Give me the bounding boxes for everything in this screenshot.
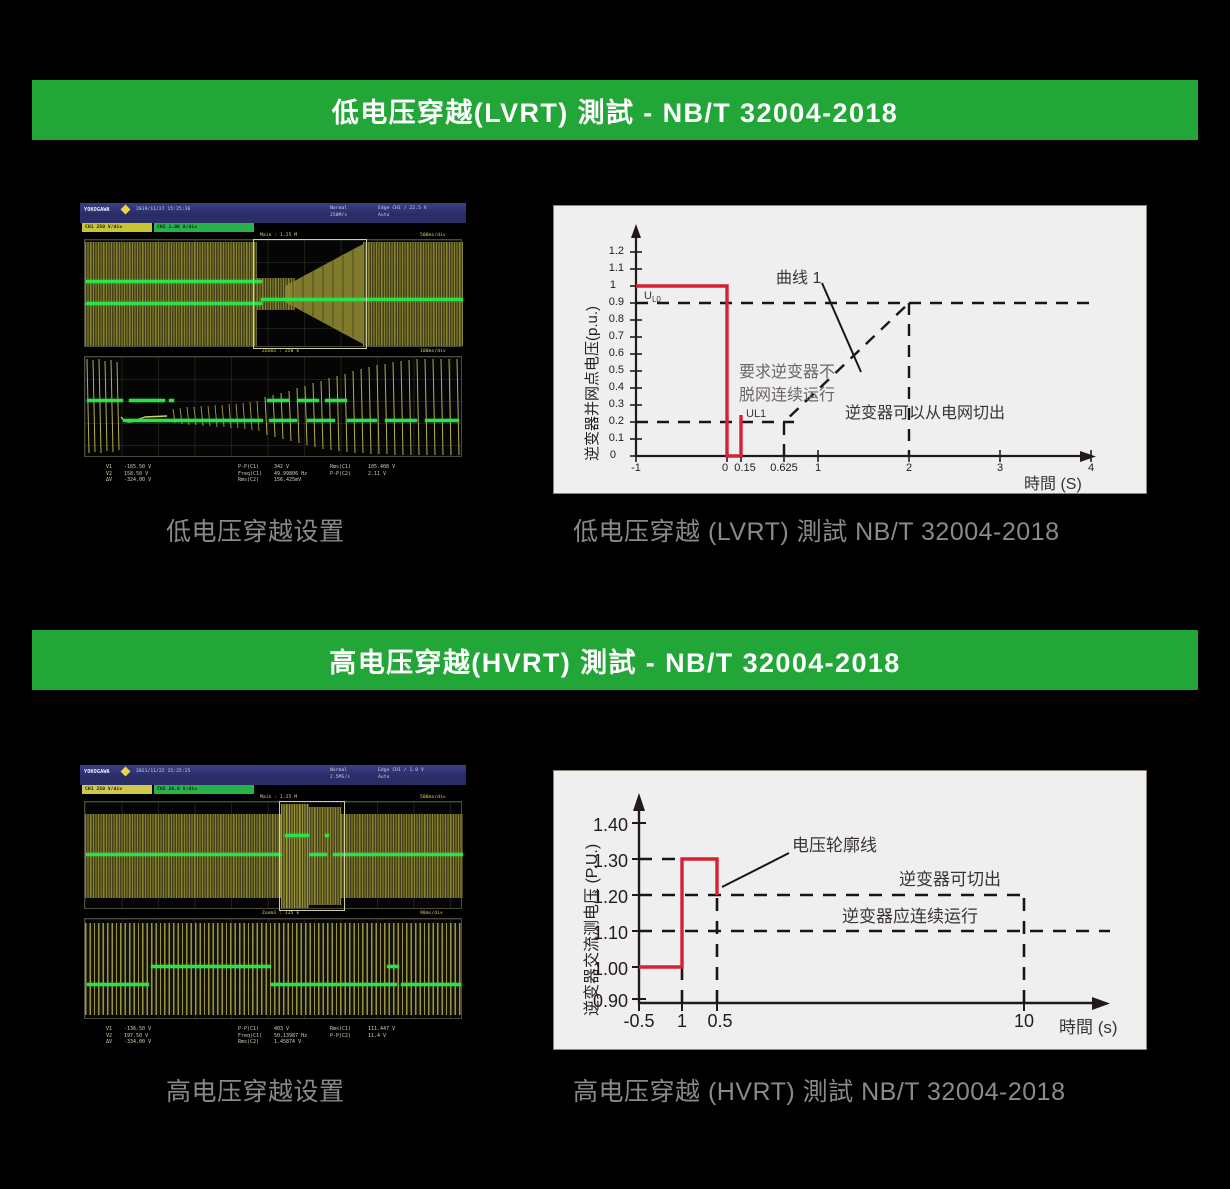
scope-meas2-col3-names: Rms(C1) P-P(C2): [330, 1026, 351, 1039]
scope-meas-col1-values: -165.50 V 158.50 V -324.00 V: [124, 464, 151, 484]
scope-main-label-2: Main : 1.25 M: [260, 795, 297, 800]
scope-rate: 250M/s: [330, 213, 347, 218]
lvrt-x-axis-label: 時間 (S): [1024, 470, 1082, 494]
scope-channel1-label-2: CH1 250 V/div: [85, 787, 122, 792]
lvrt-plot: [554, 206, 1148, 495]
scope-meas2-col1-names: V1 V2 ΔV: [106, 1026, 112, 1046]
section-banner-hvrt: 高电压穿越(HVRT) 測試 - NB/T 32004-2018: [32, 630, 1198, 690]
scope-zoom-grid-2: [84, 918, 462, 1019]
hvrt-ytick-120: 1.20: [593, 887, 628, 908]
scope-mode-2: Normal: [330, 768, 347, 773]
trace-green-zb3: [271, 983, 397, 986]
lvrt-ytick-09: 0.9: [609, 296, 624, 308]
scope-meas2-col2-names: P-P(C1) Freq(C1) Rms(C2): [238, 1026, 262, 1046]
hvrt-chart-panel: 逆变器交流测电压 (P.U.): [553, 770, 1147, 1050]
lvrt-xtick-2: 2: [906, 462, 912, 474]
lvrt-ytick-04: 0.4: [609, 381, 624, 393]
scope-channel-bar-2: CH1 250 V/div CH2 20.0 V/div: [82, 785, 262, 794]
trace-green-z2: [129, 399, 165, 402]
scope-meas-col2-values: 342 V 49.99806 Hz 156.425mV: [274, 464, 307, 484]
trace-green-z9: [307, 419, 335, 422]
scope-meas-col3-values: 105.408 V 2.11 V: [368, 464, 395, 477]
trace-green-z10: [347, 419, 377, 422]
lvrt-ytick-06: 0.6: [609, 347, 624, 359]
scope-trigger-mode: Auto: [378, 213, 389, 218]
waveform-ac-left-2: [85, 814, 281, 898]
caption-lvrt-scope: 低电压穿越设置: [166, 512, 345, 548]
scope-datetime: 2019/11/27 15:25:36: [136, 207, 190, 212]
lvrt-ytick-1: 1: [610, 279, 616, 291]
lvrt-annot-continuous-line2: 脱网连续运行: [739, 381, 835, 405]
lvrt-label-ul1: UL1: [746, 408, 766, 420]
hvrt-xtick-1: 1: [677, 1011, 687, 1032]
lvrt-y-axis-label: 逆变器并网点电压(p.u.): [581, 306, 602, 461]
poster-root: 低电压穿越(LVRT) 測試 - NB/T 32004-2018 YOKOGAW…: [0, 0, 1230, 1189]
scope-main-timebase: 500ms/div: [420, 233, 446, 238]
hvrt-annot-cutout: 逆变器可切出: [899, 865, 1001, 890]
lvrt-ytick-11: 1.1: [609, 262, 624, 274]
trace-green-z4: [123, 419, 263, 422]
banner-title-lvrt: 低电压穿越(LVRT) 測試 - NB/T 32004-2018: [332, 91, 898, 130]
trace-green-mid: [86, 302, 262, 305]
waveform-zoom: [85, 357, 463, 456]
hvrt-ytick-140: 1.40: [593, 815, 628, 836]
trace-green-z5: [267, 399, 289, 402]
scope-trigger: Edge CH1 / 22.5 V: [378, 206, 427, 211]
lvrt-xtick-4: 4: [1088, 462, 1094, 474]
trace-green-z7: [325, 399, 347, 402]
scope-meas2-col2-values: 403 V 50.13987 Hz 1.45874 V: [274, 1026, 307, 1046]
lvrt-ytick-12: 1.2: [609, 245, 624, 257]
hvrt-xtick-neg05: -0.5: [623, 1011, 654, 1032]
scope-meas-col3-names: Rms(C1) P-P(C2): [330, 464, 351, 477]
hvrt-xtick-05: 0.5: [707, 1011, 732, 1032]
lvrt-xtick-neg1: -1: [631, 462, 641, 474]
trace-green-upper-2: [86, 853, 282, 856]
lvrt-xtick-3: 3: [997, 462, 1003, 474]
lvrt-xtick-015: 0.15: [734, 462, 755, 474]
lvrt-annot-curve1: 曲线 1: [776, 264, 821, 288]
scope-channel-bar: CH1 250 V/div CH2 1.00 A/div: [82, 223, 262, 232]
waveform-ac-right: [363, 242, 463, 346]
scope-meas2-col1-values: -136.50 V 197.50 V -334.00 V: [124, 1026, 151, 1046]
hvrt-ytick-100: 1.00: [593, 959, 628, 980]
lvrt-chart-panel: 逆变器并网点电压(p.u.): [553, 205, 1147, 494]
lvrt-ytick-03: 0.3: [609, 398, 624, 410]
scope-meas-col1-names: V1 V2 ΔV: [106, 464, 112, 484]
lvrt-annot-continuous-line1: 要求逆变器不: [739, 358, 835, 382]
scope-zoom-label: Zoom1 : 250 k: [262, 349, 299, 354]
trace-green-z1: [87, 399, 123, 402]
trace-green-z6: [297, 399, 319, 402]
scope-channel1-label: CH1 250 V/div: [85, 225, 122, 230]
lvrt-ytick-07: 0.7: [609, 330, 624, 342]
hvrt-annot-continuous: 逆变器应连续运行: [842, 902, 978, 927]
caption-lvrt-chart: 低电压穿越 (LVRT) 測試 NB/T 32004-2018: [573, 512, 1060, 548]
lvrt-ytick-02: 0.2: [609, 415, 624, 427]
trace-green-zb2: [151, 965, 271, 968]
zoom-selection-box[interactable]: [253, 239, 367, 349]
lvrt-annot-disconnect: 逆变器可以从电网切出: [845, 399, 1005, 423]
waveform-zoom-2: [85, 923, 461, 1015]
scope-brand: YOKOGAWA: [84, 207, 110, 213]
hvrt-xtick-10: 10: [1014, 1011, 1034, 1032]
lvrt-ytick-08: 0.8: [609, 313, 624, 325]
trace-green-z12: [425, 419, 459, 422]
scope-zoom-label-2: Zoom1 : 125 k: [262, 911, 299, 916]
hvrt-ytick-090: 0.90: [593, 991, 628, 1012]
trace-green-zb5: [401, 983, 461, 986]
waveform-ac-right-2: [341, 814, 463, 898]
lvrt-ytick-0: 0: [610, 449, 616, 461]
section-banner-lvrt: 低电压穿越(LVRT) 測試 - NB/T 32004-2018: [32, 80, 1198, 140]
scope-brand-2: YOKOGAWA: [84, 769, 110, 775]
hvrt-ytick-110: 1.10: [593, 923, 628, 944]
scope-channel2-label-2: CH2 20.0 V/div: [157, 787, 197, 792]
trace-green-zb4: [387, 965, 399, 968]
caption-hvrt-scope: 高电压穿越设置: [166, 1072, 345, 1108]
scope-zoom-grid: [84, 356, 462, 457]
hvrt-ytick-130: 1.30: [593, 851, 628, 872]
trace-green-upper: [86, 280, 262, 283]
oscilloscope-screenshot-lvrt: YOKOGAWA 2019/11/27 15:25:36 Normal 250M…: [80, 203, 466, 494]
lvrt-xtick-1: 1: [815, 462, 821, 474]
lvrt-ytick-05: 0.5: [609, 364, 624, 376]
trace-green-z3: [169, 399, 174, 402]
lvrt-label-ul0-sub: L0: [652, 295, 661, 304]
zoom-selection-box-2[interactable]: [279, 801, 345, 911]
scope-rate-2: 2.5MS/s: [330, 775, 350, 780]
scope-subbar-2: [80, 778, 466, 785]
lvrt-xtick-0: 0: [722, 462, 728, 474]
scope-zoom-timebase: 100ms/div: [420, 349, 446, 354]
scope-main-grid: [84, 239, 462, 347]
scope-main-label: Main : 1.25 M: [260, 233, 297, 238]
caption-hvrt-chart: 高电压穿越 (HVRT) 測試 NB/T 32004-2018: [573, 1072, 1066, 1108]
hvrt-annot-voltage-profile: 电压轮廓线: [792, 831, 877, 856]
scope-zoom-timebase-2: 90ms/div: [420, 911, 443, 916]
banner-title-hvrt: 高电压穿越(HVRT) 測試 - NB/T 32004-2018: [329, 641, 900, 680]
hvrt-x-axis-label: 時間 (s): [1059, 1013, 1118, 1038]
scope-subbar: [80, 216, 466, 223]
scope-channel2-label: CH2 1.00 A/div: [157, 225, 197, 230]
trace-green-right-2: [333, 853, 463, 856]
scope-mode: Normal: [330, 206, 347, 211]
lvrt-label-ul0-main: U: [644, 290, 652, 302]
scope-trigger-mode-2: Auto: [378, 775, 389, 780]
trace-green-zb1: [87, 983, 149, 986]
oscilloscope-screenshot-hvrt: YOKOGAWA 2021/11/22 15:25:25 Normal 2.5M…: [80, 765, 466, 1056]
scope-meas-col2-names: P-P(C1) Freq(C1) Rms(C2): [238, 464, 262, 484]
lvrt-ytick-01: 0.1: [609, 432, 624, 444]
scope-main-grid-2: [84, 801, 462, 909]
trace-green-z8: [269, 419, 297, 422]
scope-main-timebase-2: 500ms/div: [420, 795, 446, 800]
scope-meas2-col3-values: 111.447 V 11.4 V: [368, 1026, 395, 1039]
lvrt-label-ul0: UL0: [644, 290, 661, 304]
lvrt-xtick-0625: 0.625: [770, 462, 798, 474]
scope-trigger-2: Edge CH1 / 1.0 V: [378, 768, 424, 773]
scope-datetime-2: 2021/11/22 15:25:25: [136, 769, 190, 774]
waveform-ac-left: [85, 242, 257, 346]
trace-green-z11: [385, 419, 417, 422]
